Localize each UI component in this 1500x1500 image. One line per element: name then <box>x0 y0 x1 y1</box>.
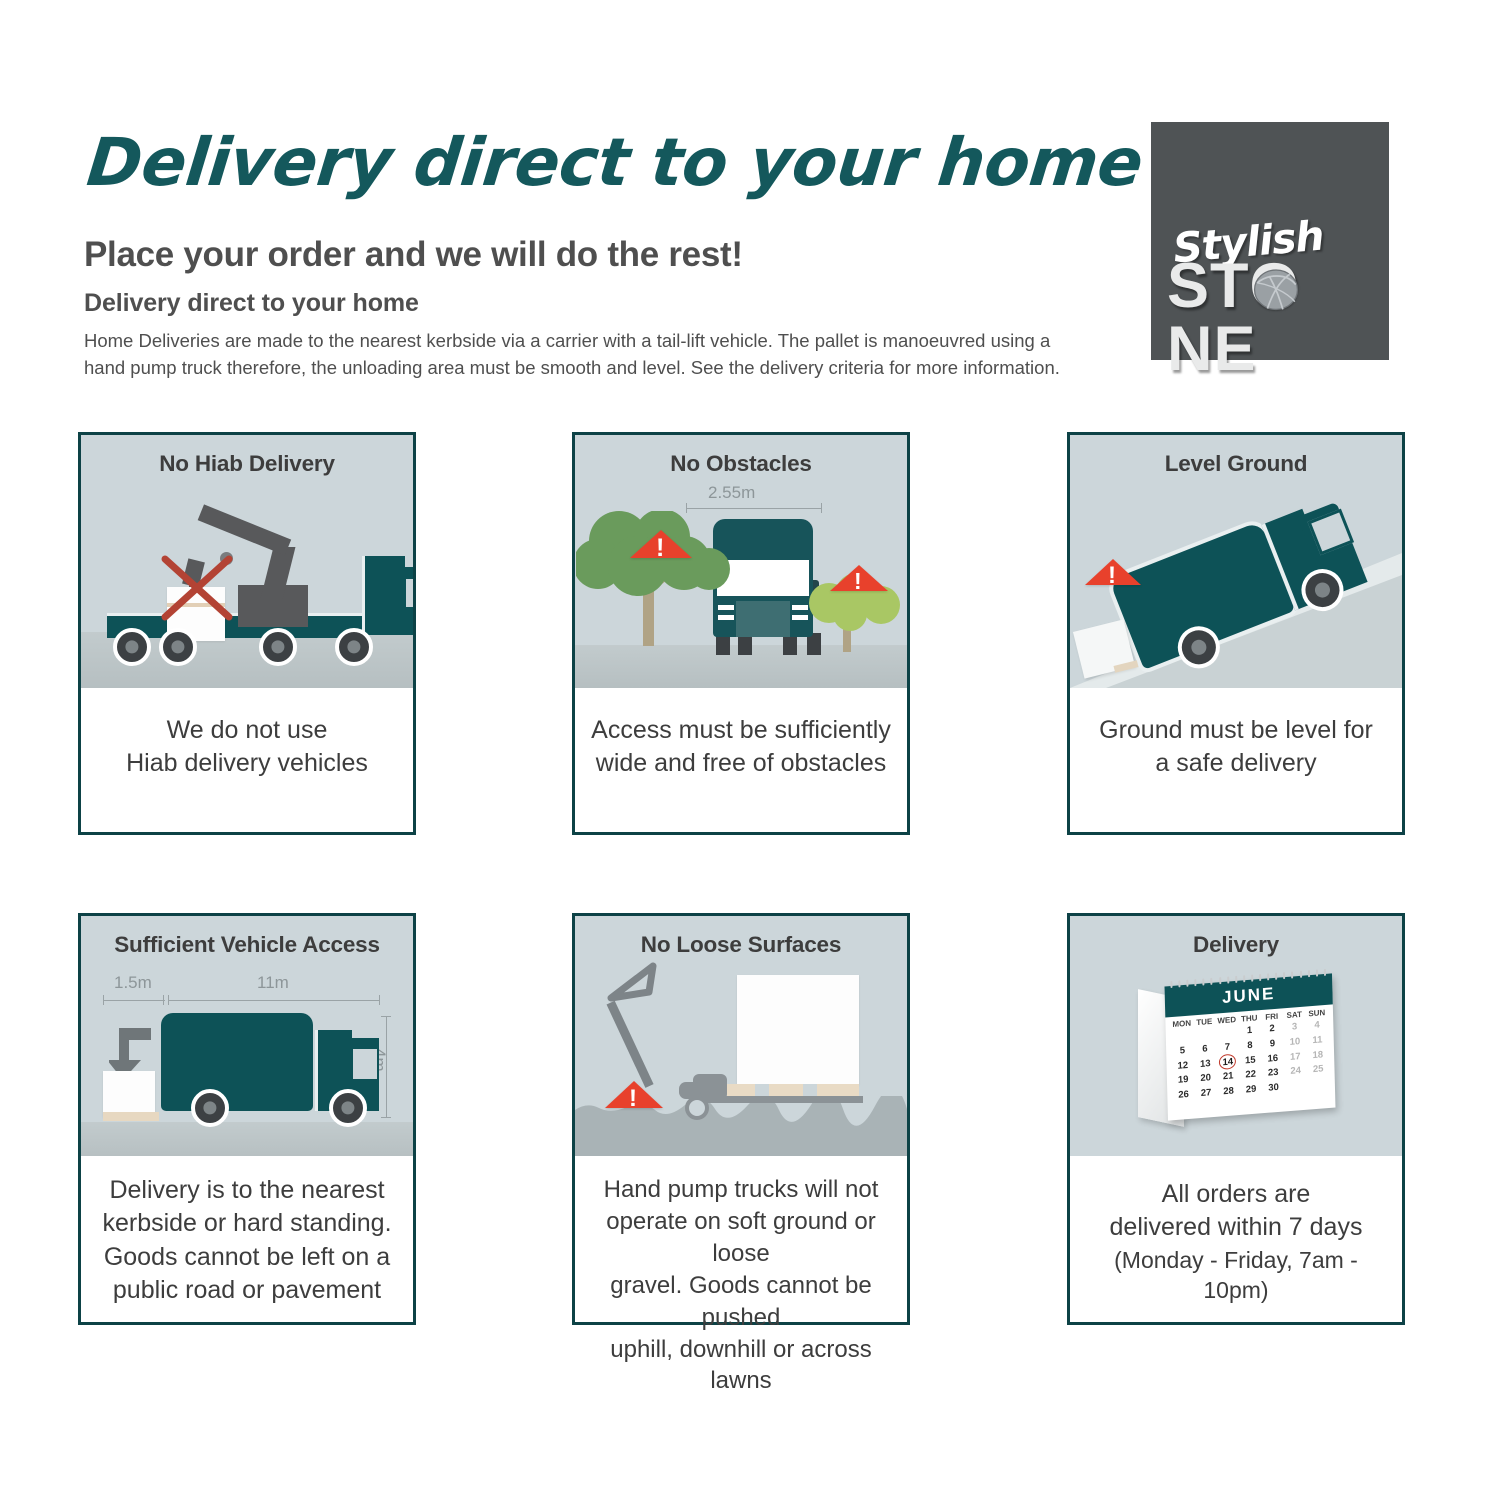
caption-line: Ground must be level for <box>1080 714 1392 747</box>
caption-line: gravel. Goods cannot be pushed <box>585 1270 897 1334</box>
card-caption: Delivery is to the nearest kerbside or h… <box>81 1156 413 1325</box>
calendar-day <box>1307 1077 1330 1093</box>
calendar-day: 20 <box>1194 1071 1217 1087</box>
caption-line: We do not use <box>91 714 403 747</box>
logo-block-word: STO NE <box>1167 255 1389 381</box>
card-no-loose-surfaces: No Loose Surfaces ! Hand pump trucks wil… <box>572 913 910 1325</box>
illustration-obstacles: No Obstacles 2.55m <box>575 435 907 688</box>
caption-line: delivered within 7 days <box>1080 1211 1392 1244</box>
calendar-day: 13 <box>1194 1056 1217 1072</box>
pump-truck-fork <box>705 1096 863 1103</box>
crossed-out-icon <box>161 555 233 623</box>
calendar-day: 16 <box>1261 1051 1284 1067</box>
card-sufficient-vehicle-access: Sufficient Vehicle Access 1.5m 11m 4m <box>78 913 416 1325</box>
wheel <box>159 628 197 666</box>
truck-window <box>404 577 413 609</box>
calendar-day: 1 <box>1238 1023 1261 1039</box>
caption-line: Delivery is to the nearest <box>91 1174 403 1207</box>
calendar-day: 24 <box>1284 1064 1307 1080</box>
calendar-day: 5 <box>1171 1043 1194 1059</box>
caption-line: Hiab delivery vehicles <box>91 747 403 780</box>
wheel <box>329 1089 367 1127</box>
section-title: Delivery direct to your home <box>84 289 1084 318</box>
calendar-day: 9 <box>1261 1036 1284 1052</box>
caption-line: kerbside or hard standing. <box>91 1207 403 1240</box>
calendar-day: 11 <box>1306 1033 1329 1049</box>
card-caption: Hand pump trucks will not operate on sof… <box>575 1156 907 1415</box>
illustration-calendar: Delivery JUNE MON TUE WED THU FRI SAT SU… <box>1070 916 1402 1156</box>
intro-paragraph: Home Deliveries are made to the nearest … <box>84 328 1084 382</box>
card-caption: All orders are delivered within 7 days (… <box>1070 1156 1402 1324</box>
calendar-dow: THU <box>1238 1013 1261 1024</box>
card-no-obstacles: No Obstacles 2.55m <box>572 432 910 835</box>
dimension-tick <box>163 995 164 1005</box>
ground-strip <box>81 1122 413 1156</box>
dimension-tick <box>103 995 104 1005</box>
caption-line: All orders are <box>1080 1178 1392 1211</box>
dimension-tick <box>381 1117 391 1118</box>
pump-truck-grip-icon <box>603 962 665 1014</box>
pallet-box <box>103 1071 155 1117</box>
calendar-day: 27 <box>1195 1086 1218 1102</box>
calendar-day: 10 <box>1284 1034 1307 1050</box>
truck-lamp <box>718 605 734 610</box>
stone-icon <box>1250 264 1302 312</box>
dimension-label-clearance: 1.5m <box>114 973 152 993</box>
card-level-ground: Level Ground ! Ground must be level for … <box>1067 432 1405 835</box>
calendar-front-page: JUNE MON TUE WED THU FRI SAT SUN 1234567… <box>1165 973 1336 1120</box>
dimension-label-width: 2.55m <box>708 483 755 503</box>
card-title: No Hiab Delivery <box>81 451 413 477</box>
caption-line: uphill, downhill or across lawns <box>585 1334 897 1398</box>
calendar-day: 21 <box>1217 1069 1240 1085</box>
calendar-day: 22 <box>1239 1067 1262 1083</box>
calendar-day: 28 <box>1217 1084 1240 1100</box>
logo-block-post: NE <box>1167 314 1257 384</box>
crane-boom <box>198 504 292 555</box>
dimension-tick <box>379 995 380 1005</box>
dimension-line <box>168 1000 380 1001</box>
card-no-hiab-delivery: No Hiab Delivery We do not use Hiab deli… <box>78 432 416 835</box>
dimension-line <box>686 508 822 509</box>
card-title: No Loose Surfaces <box>575 932 907 958</box>
calendar-day: 17 <box>1284 1049 1307 1065</box>
dimension-tick <box>168 995 169 1005</box>
caption-line: operate on soft ground or loose <box>585 1206 897 1270</box>
calendar-day: 6 <box>1194 1041 1217 1057</box>
truck-lamp <box>718 615 734 620</box>
calendar-day: 15 <box>1239 1053 1262 1069</box>
calendar-day: 30 <box>1262 1080 1285 1096</box>
wheel <box>113 628 151 666</box>
caption-line: wide and free of obstacles <box>585 747 897 780</box>
calendar-dow: MON <box>1170 1018 1193 1029</box>
calendar-day: 19 <box>1172 1073 1195 1089</box>
calendar-day <box>1171 1028 1194 1044</box>
calendar-day <box>1216 1025 1239 1041</box>
wheel <box>191 1089 229 1127</box>
caption-line: Hand pump trucks will not <box>585 1174 897 1206</box>
truck-grille <box>736 601 790 637</box>
calendar-day: 18 <box>1306 1047 1329 1063</box>
calendar-day: 23 <box>1262 1066 1285 1082</box>
calendar-day: 2 <box>1261 1021 1284 1037</box>
dimension-label-length: 11m <box>257 973 289 993</box>
caption-line: a safe delivery <box>1080 747 1392 780</box>
calendar-day: 26 <box>1172 1088 1195 1104</box>
card-title: No Obstacles <box>575 451 907 477</box>
calendar-days-grid: 1234567891011121314151617181920212223242… <box>1166 1017 1336 1109</box>
illustration-loose-surfaces: No Loose Surfaces ! <box>575 916 907 1156</box>
calendar-dow: SAT <box>1283 1010 1306 1021</box>
pump-truck-wheel <box>685 1096 709 1120</box>
brand-logo: Stylish STO NE <box>1151 122 1389 360</box>
caption-line: Access must be sufficiently <box>585 714 897 747</box>
card-caption: Access must be sufficiently wide and fre… <box>575 688 907 799</box>
calendar-day: 4 <box>1306 1018 1329 1034</box>
caption-line: Goods cannot be left on a <box>91 1241 403 1274</box>
calendar-day: 8 <box>1239 1038 1262 1054</box>
dimension-tick <box>381 1016 391 1017</box>
calendar-day: 29 <box>1240 1082 1263 1098</box>
card-caption: We do not use Hiab delivery vehicles <box>81 688 413 799</box>
caption-hours: (Monday - Friday, 7am - 10pm) <box>1080 1245 1392 1306</box>
calendar-dow: SUN <box>1305 1008 1328 1019</box>
page-title: Delivery direct to your home <box>84 128 1091 197</box>
logo-stone-o: O <box>1250 255 1300 318</box>
wheel <box>259 628 297 666</box>
card-title: Level Ground <box>1070 451 1402 477</box>
truck-box-body <box>161 1013 313 1111</box>
calendar-day: 7 <box>1216 1040 1239 1056</box>
logo-block-pre: ST <box>1167 251 1250 321</box>
page-subtitle: Place your order and we will do the rest… <box>84 235 1084 275</box>
calendar-dow: TUE <box>1193 1017 1216 1028</box>
pallet-base <box>103 1112 159 1121</box>
illustration-vehicle-access: Sufficient Vehicle Access 1.5m 11m 4m <box>81 916 413 1156</box>
calendar-day: 14 <box>1216 1054 1239 1070</box>
calendar-dow: FRI <box>1260 1011 1283 1022</box>
illustration-hiab-truck: No Hiab Delivery <box>81 435 413 688</box>
calendar-day <box>1193 1027 1216 1043</box>
wheel <box>335 628 373 666</box>
calendar-day: 25 <box>1307 1062 1330 1078</box>
card-title: Sufficient Vehicle Access <box>81 932 413 958</box>
calendar-dow: WED <box>1215 1015 1238 1026</box>
calendar-day: 12 <box>1171 1058 1194 1074</box>
card-title: Delivery <box>1070 932 1402 958</box>
calendar-day <box>1285 1079 1308 1095</box>
page-header: Delivery direct to your home Place your … <box>84 128 1084 382</box>
dimension-tick <box>821 503 822 513</box>
illustration-level-ground: Level Ground ! <box>1070 435 1402 688</box>
card-delivery: Delivery JUNE MON TUE WED THU FRI SAT SU… <box>1067 913 1405 1325</box>
card-caption: Ground must be level for a safe delivery <box>1070 688 1402 799</box>
pallet-box <box>737 975 859 1085</box>
caption-line: public road or pavement <box>91 1274 403 1307</box>
calendar-icon: JUNE MON TUE WED THU FRI SAT SUN 1234567… <box>1136 978 1346 1128</box>
truck-window <box>351 1047 379 1081</box>
calendar-day: 3 <box>1283 1020 1306 1036</box>
dimension-line <box>103 1000 165 1001</box>
